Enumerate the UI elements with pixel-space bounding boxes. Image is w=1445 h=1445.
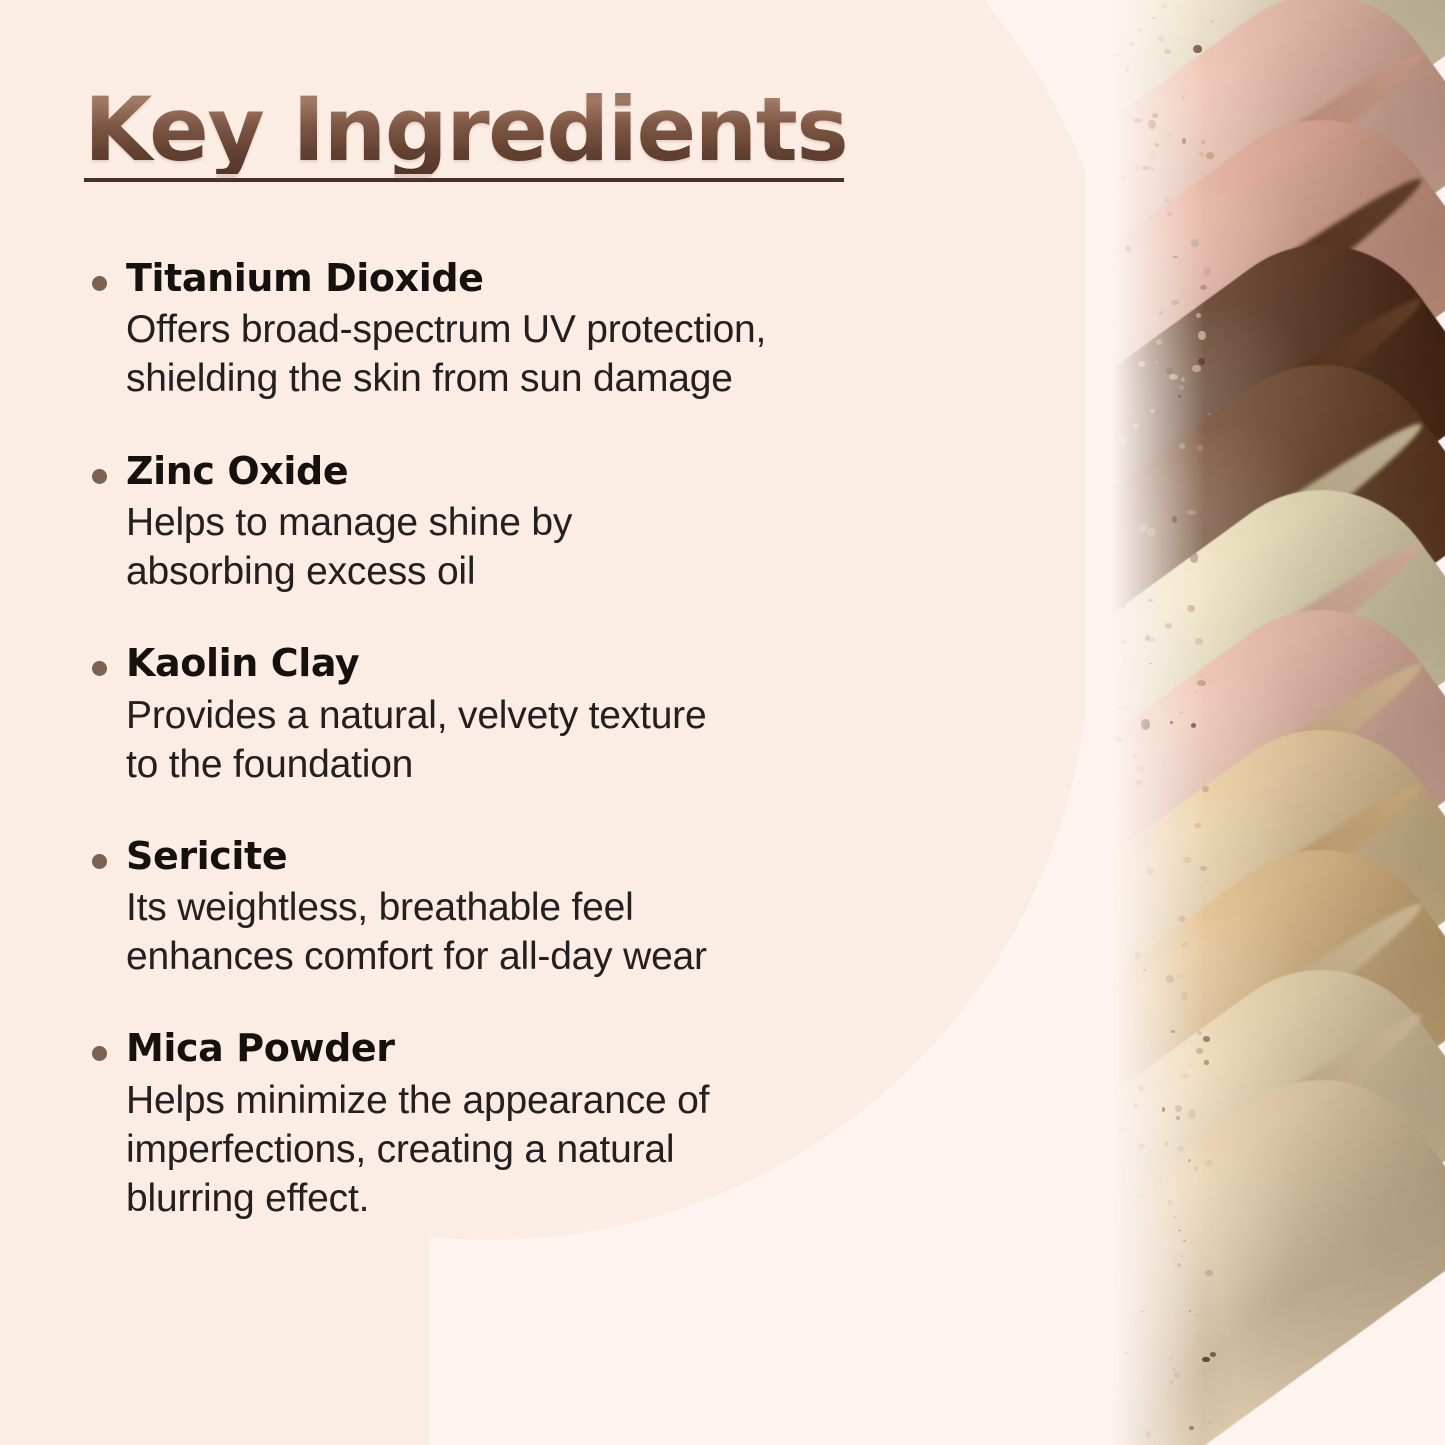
powder-speck bbox=[1114, 1392, 1121, 1399]
powder-speck bbox=[1111, 254, 1115, 256]
powder-speck bbox=[1098, 1122, 1102, 1124]
powder-speck bbox=[1198, 331, 1205, 340]
powder-speck bbox=[1141, 719, 1150, 730]
powder-speck bbox=[1189, 1310, 1191, 1312]
powder-speck bbox=[1208, 413, 1211, 416]
powder-speck bbox=[1167, 212, 1172, 216]
powder-speck bbox=[1211, 20, 1214, 22]
powder-speck bbox=[1187, 1063, 1194, 1067]
ingredient-item: Mica PowderHelps minimize the appearance… bbox=[84, 1025, 964, 1223]
powder-speck bbox=[1193, 45, 1202, 53]
powder-speck bbox=[1115, 479, 1119, 482]
powder-speck bbox=[1182, 942, 1188, 947]
powder-speck bbox=[1138, 1194, 1144, 1198]
key-ingredients-infographic: Key Ingredients Titanium DioxideOffers b… bbox=[0, 0, 1445, 1445]
powder-speck bbox=[1095, 760, 1101, 766]
ingredient-item: Kaolin ClayProvides a natural, velvety t… bbox=[84, 640, 964, 789]
bullet-dot-icon bbox=[92, 854, 107, 869]
powder-speck bbox=[1102, 1431, 1108, 1436]
powder-speck bbox=[1106, 22, 1115, 28]
powder-speck bbox=[1187, 510, 1195, 515]
powder-speck bbox=[1182, 96, 1185, 98]
powder-speck bbox=[1118, 1423, 1122, 1427]
powder-speck bbox=[1176, 974, 1184, 979]
powder-speck bbox=[1117, 589, 1122, 595]
powder-speck bbox=[1187, 605, 1195, 612]
powder-speck bbox=[1149, 663, 1152, 664]
powder-speck bbox=[1111, 1197, 1116, 1200]
powder-speck bbox=[1099, 1010, 1102, 1013]
powder-speck bbox=[1202, 786, 1209, 792]
powder-speck bbox=[1170, 1257, 1177, 1264]
powder-speck bbox=[1149, 1149, 1151, 1152]
ingredient-name: Kaolin Clay bbox=[126, 640, 964, 686]
bullet-dot-icon bbox=[92, 469, 107, 484]
powder-speck bbox=[1125, 246, 1131, 252]
powder-speck bbox=[1133, 1034, 1140, 1038]
powder-speck bbox=[1203, 1036, 1210, 1042]
powder-speck bbox=[1198, 672, 1204, 677]
powder-speck bbox=[1210, 1352, 1216, 1357]
powder-speck bbox=[1159, 268, 1168, 273]
powder-speck bbox=[1114, 54, 1119, 56]
ingredient-item: SericiteIts weightless, breathable feel … bbox=[84, 833, 964, 982]
powder-speck bbox=[1156, 361, 1158, 363]
powder-speck bbox=[1205, 1160, 1214, 1167]
powder-speck bbox=[1133, 165, 1140, 171]
powder-speck bbox=[1183, 857, 1191, 863]
powder-speck bbox=[1206, 152, 1214, 159]
powder-speck bbox=[1164, 1334, 1167, 1337]
powder-speck bbox=[1134, 951, 1141, 959]
powder-speck bbox=[1167, 1199, 1173, 1207]
powder-speck bbox=[1198, 358, 1206, 365]
powder-speck bbox=[1110, 193, 1113, 196]
content-column: Key Ingredients Titanium DioxideOffers b… bbox=[0, 0, 1080, 1445]
powder-speck bbox=[1185, 89, 1188, 91]
powder-speck bbox=[1190, 552, 1198, 562]
powder-speck bbox=[1104, 1117, 1111, 1124]
powder-speck bbox=[1152, 17, 1156, 19]
powder-speck bbox=[1129, 42, 1134, 48]
ingredient-item: Titanium DioxideOffers broad-spectrum UV… bbox=[84, 255, 964, 404]
powder-speck bbox=[1175, 1105, 1182, 1112]
powder-speck bbox=[1191, 723, 1197, 728]
powder-speck bbox=[1196, 313, 1201, 318]
powder-speck bbox=[1142, 1013, 1144, 1015]
ingredient-description: Offers broad-spectrum UV protection, shi… bbox=[126, 305, 964, 403]
powder-speck bbox=[1129, 1197, 1131, 1199]
powder-speck bbox=[1178, 1230, 1180, 1231]
bullet-dot-icon bbox=[92, 1046, 107, 1061]
powder-speck bbox=[1094, 492, 1100, 500]
ingredient-list: Titanium DioxideOffers broad-spectrum UV… bbox=[84, 255, 964, 1223]
powder-speck bbox=[1169, 374, 1178, 380]
powder-speck bbox=[1113, 1220, 1115, 1222]
ingredient-description: Its weightless, breathable feel enhances… bbox=[126, 883, 964, 981]
powder-speck bbox=[1197, 1031, 1203, 1035]
powder-speck bbox=[1123, 1424, 1127, 1426]
powder-speck bbox=[1102, 131, 1107, 136]
page-title-block: Key Ingredients bbox=[84, 86, 884, 182]
powder-speck bbox=[1174, 1216, 1177, 1218]
powder-speck bbox=[1098, 371, 1101, 373]
powder-speck bbox=[1173, 256, 1177, 259]
powder-speck bbox=[1188, 1159, 1191, 1162]
powder-speck bbox=[1122, 657, 1127, 663]
powder-speck bbox=[1098, 270, 1101, 273]
powder-speck bbox=[1208, 1421, 1211, 1424]
powder-speck bbox=[1162, 1107, 1165, 1111]
powder-speck bbox=[1205, 1270, 1212, 1276]
powder-speck bbox=[1094, 696, 1102, 705]
powder-speck bbox=[1150, 409, 1156, 413]
ingredient-name: Zinc Oxide bbox=[126, 448, 964, 494]
powder-speck bbox=[1138, 361, 1146, 367]
powder-speck bbox=[1107, 543, 1113, 548]
powder-speck bbox=[1133, 423, 1139, 429]
powder-speck bbox=[1131, 276, 1136, 279]
powder-speck bbox=[1167, 132, 1173, 137]
powder-speck bbox=[1197, 680, 1205, 686]
powder-speck bbox=[1201, 140, 1205, 144]
powder-speck bbox=[1156, 339, 1162, 345]
powder-swatch-photo bbox=[1085, 0, 1445, 1445]
powder-speck bbox=[1158, 35, 1165, 42]
powder-speck bbox=[1202, 1357, 1209, 1362]
powder-speck bbox=[1176, 1116, 1180, 1120]
powder-speck bbox=[1124, 1352, 1127, 1354]
powder-speck bbox=[1105, 1050, 1113, 1057]
powder-speck bbox=[1188, 1109, 1196, 1119]
powder-speck bbox=[1105, 449, 1108, 452]
powder-speck bbox=[1169, 1380, 1174, 1385]
powder-speck bbox=[1134, 1103, 1138, 1107]
page-title: Key Ingredients bbox=[84, 86, 884, 174]
powder-speck bbox=[1134, 755, 1137, 758]
powder-speck bbox=[1118, 436, 1126, 445]
powder-speck bbox=[1143, 969, 1146, 971]
powder-speck bbox=[1181, 992, 1188, 1000]
ingredient-name: Mica Powder bbox=[126, 1025, 964, 1071]
powder-speck bbox=[1097, 508, 1101, 511]
powder-speck bbox=[1146, 867, 1154, 876]
powder-speck bbox=[1152, 478, 1156, 481]
powder-speck bbox=[1138, 1085, 1144, 1091]
powder-speck bbox=[1121, 685, 1127, 689]
powder-speck bbox=[1097, 669, 1103, 675]
ingredient-item: Zinc OxideHelps to manage shine by absor… bbox=[84, 448, 964, 597]
powder-speck bbox=[1203, 267, 1212, 276]
powder-speck bbox=[1171, 300, 1179, 304]
ingredient-description: Provides a natural, velvety texture to t… bbox=[126, 691, 964, 789]
powder-speck bbox=[1192, 365, 1200, 373]
powder-speck bbox=[1094, 307, 1100, 311]
powder-speck bbox=[1110, 810, 1114, 814]
ingredient-name: Titanium Dioxide bbox=[126, 255, 964, 301]
powder-speck bbox=[1109, 265, 1117, 273]
powder-speck bbox=[1101, 204, 1107, 209]
ingredient-description: Helps to manage shine by absorbing exces… bbox=[126, 498, 964, 596]
powder-speck bbox=[1116, 707, 1122, 711]
bullet-dot-icon bbox=[92, 276, 107, 291]
powder-speck bbox=[1195, 638, 1203, 645]
powder-speck bbox=[1195, 691, 1197, 693]
powder-speck bbox=[1204, 1060, 1209, 1064]
powder-speck bbox=[1107, 470, 1114, 474]
powder-speck bbox=[1165, 623, 1172, 628]
powder-speck bbox=[1111, 215, 1115, 218]
powder-speck bbox=[1194, 823, 1200, 828]
powder-speck bbox=[1105, 642, 1114, 653]
ingredient-description: Helps minimize the appearance of imperfe… bbox=[126, 1076, 964, 1223]
powder-speck bbox=[1091, 1414, 1097, 1418]
bullet-dot-icon bbox=[92, 661, 107, 676]
powder-speck bbox=[1196, 1048, 1203, 1054]
powder-speck bbox=[1109, 717, 1111, 719]
powder-speck bbox=[1113, 737, 1121, 742]
powder-speck bbox=[1104, 1275, 1112, 1281]
powder-speck bbox=[1107, 323, 1114, 330]
powder-speck bbox=[1182, 138, 1186, 143]
powder-speck bbox=[1164, 199, 1170, 202]
powder-speck bbox=[1171, 1030, 1175, 1032]
powder-speck bbox=[1165, 91, 1167, 93]
powder-speck bbox=[1177, 1146, 1183, 1152]
powder-speck bbox=[1138, 524, 1147, 532]
powder-speck bbox=[1121, 605, 1126, 608]
powder-speck bbox=[1133, 118, 1142, 123]
powder-speck bbox=[1120, 1164, 1126, 1169]
powder-speck bbox=[1096, 437, 1104, 446]
powder-speck bbox=[1168, 1357, 1174, 1361]
powder-speck bbox=[1162, 1394, 1165, 1397]
powder-speck bbox=[1159, 311, 1163, 314]
powder-speck bbox=[1178, 916, 1187, 922]
powder-speck bbox=[1132, 231, 1135, 234]
powder-speck bbox=[1125, 706, 1130, 709]
powder-speck bbox=[1095, 562, 1104, 570]
powder-speck bbox=[1097, 1273, 1100, 1275]
ingredient-name: Sericite bbox=[126, 833, 964, 879]
powder-speck bbox=[1148, 120, 1155, 129]
